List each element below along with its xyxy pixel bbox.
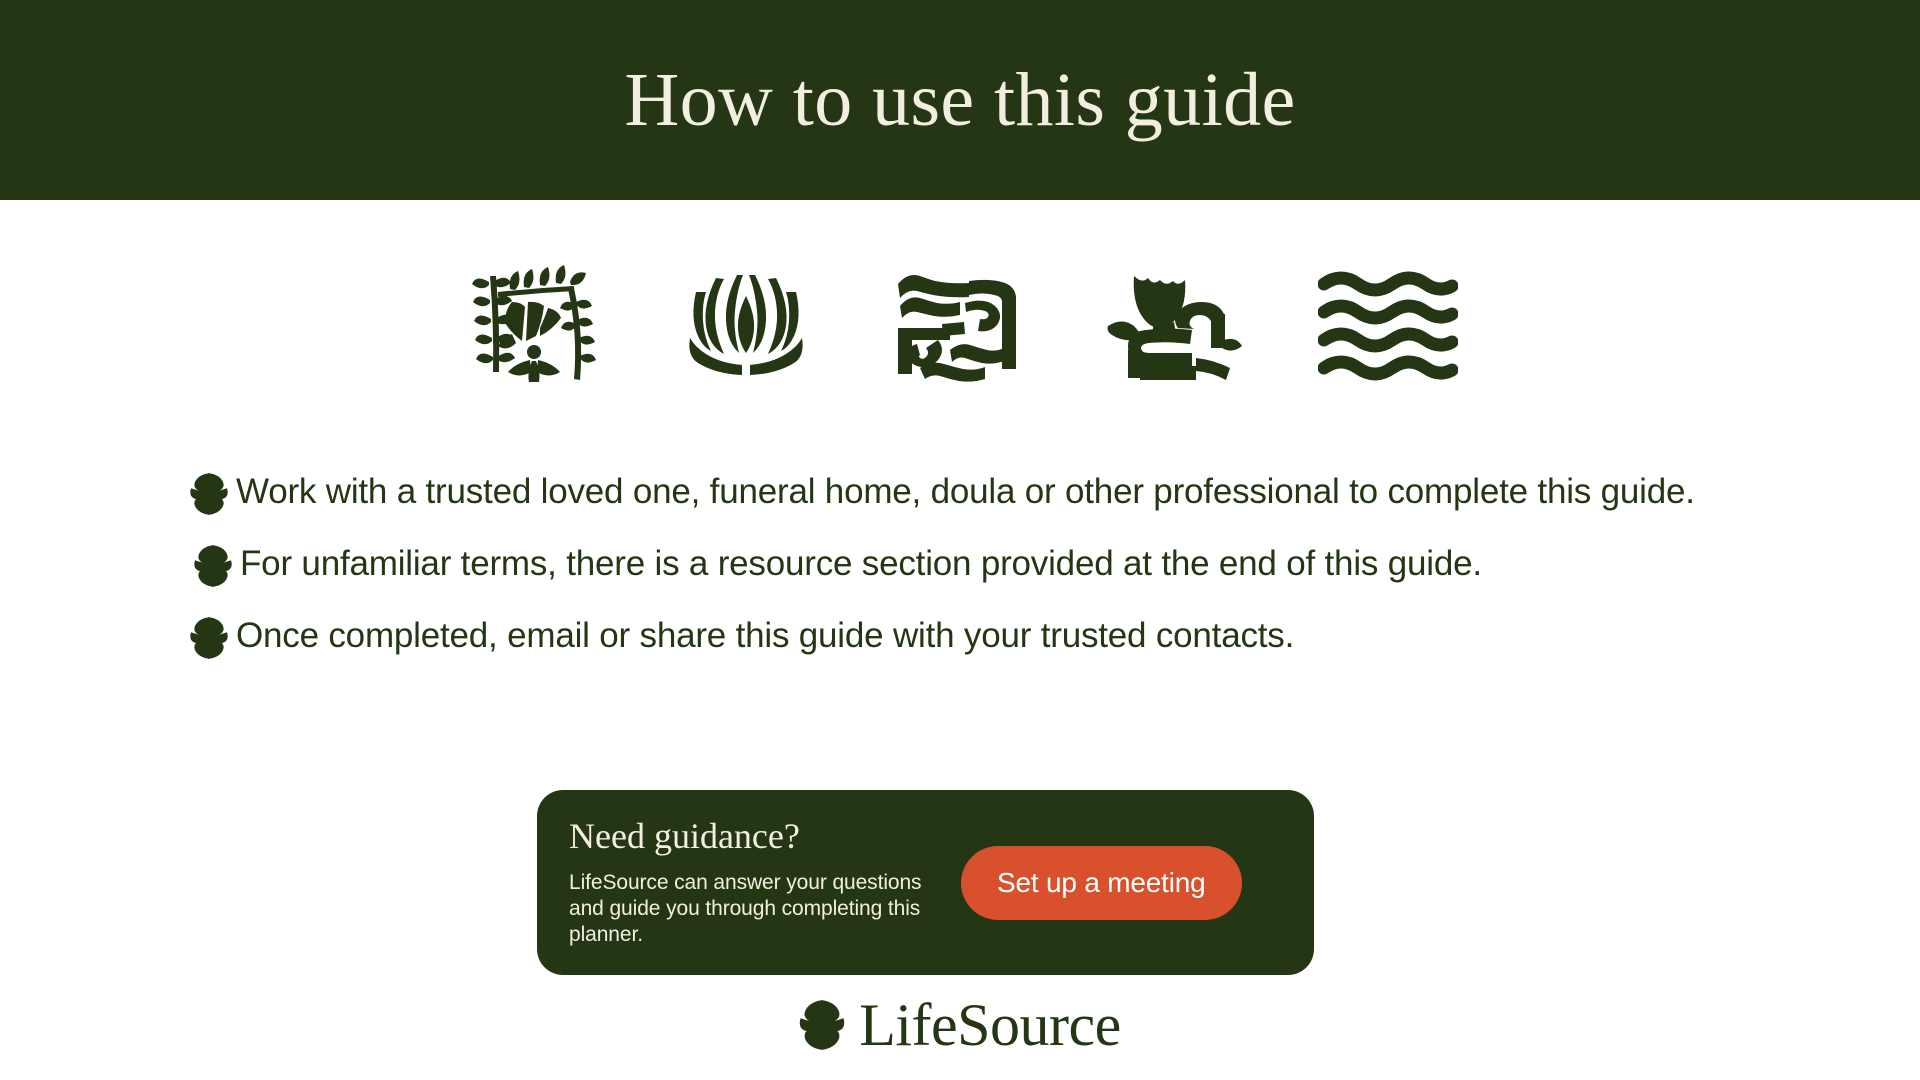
fern-square-icon	[462, 262, 602, 382]
lifesource-wordmark: LifeSource	[859, 995, 1121, 1055]
list-item: Work with a trusted loved one, funeral h…	[190, 470, 1870, 514]
cta-heading: Need guidance?	[569, 817, 939, 857]
maze-wave-icon	[890, 262, 1030, 382]
four-petal-flower-icon	[190, 472, 228, 516]
list-item: For unfamiliar terms, there is a resourc…	[194, 542, 1870, 586]
list-item-label: For unfamiliar terms, there is a resourc…	[240, 542, 1482, 586]
lifesource-logo: LifeSource	[0, 995, 1920, 1055]
list-item: Once completed, email or share this guid…	[190, 614, 1870, 658]
page-header: How to use this guide	[0, 0, 1920, 200]
four-petal-flower-icon	[799, 999, 845, 1051]
instructions-list: Work with a trusted loved one, funeral h…	[190, 470, 1870, 686]
page-title: How to use this guide	[624, 62, 1295, 138]
cta-text-block: Need guidance? LifeSource can answer you…	[569, 817, 939, 949]
water-waves-icon	[1318, 262, 1458, 382]
need-guidance-card: Need guidance? LifeSource can answer you…	[537, 790, 1314, 975]
tulip-vine-icon	[1104, 262, 1244, 382]
guide-page: How to use this guide	[0, 0, 1920, 1080]
four-petal-flower-icon	[194, 544, 232, 588]
cta-body-text: LifeSource can answer your questions and…	[569, 870, 939, 948]
decorative-icon-row	[0, 262, 1920, 382]
lotus-flame-icon	[676, 262, 816, 382]
set-up-a-meeting-button[interactable]: Set up a meeting	[961, 846, 1242, 920]
list-item-label: Once completed, email or share this guid…	[236, 614, 1294, 658]
four-petal-flower-icon	[190, 616, 228, 660]
list-item-label: Work with a trusted loved one, funeral h…	[236, 470, 1695, 514]
